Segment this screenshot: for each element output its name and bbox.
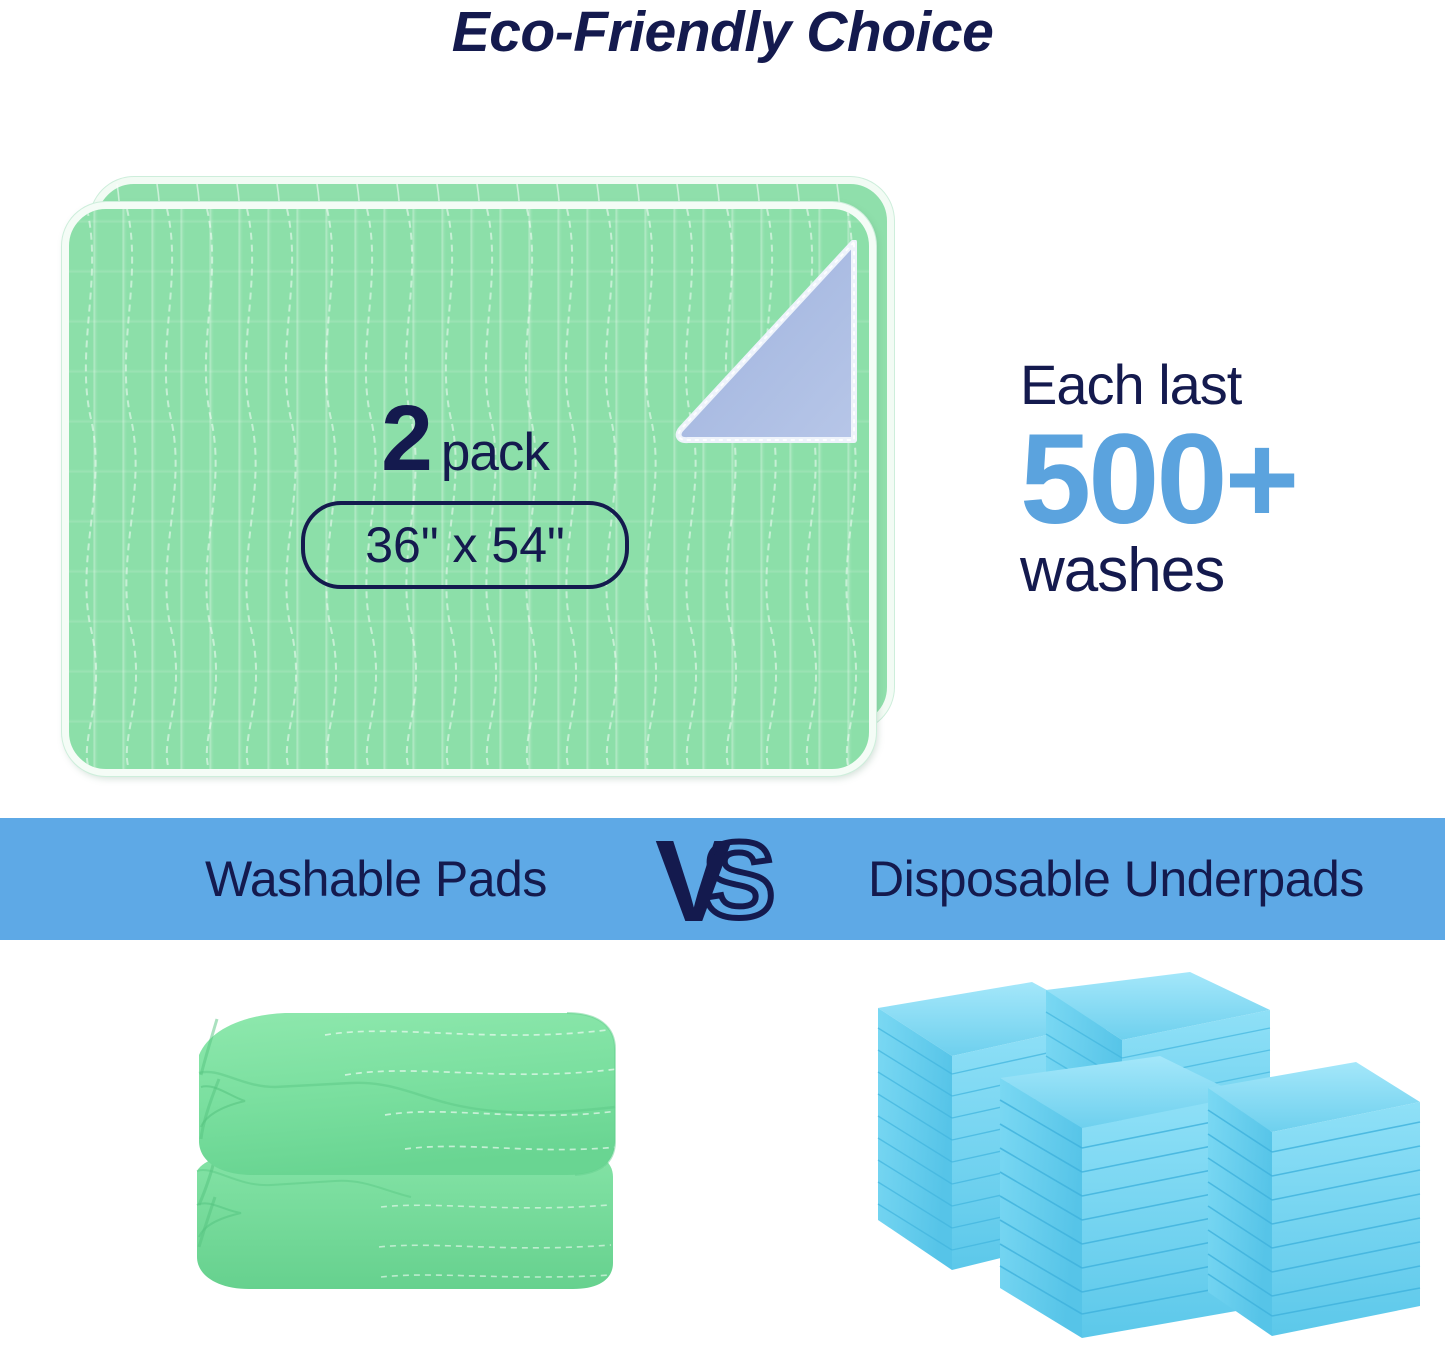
hero-section: 2 pack 36" x 54" Each last 500+ washes — [0, 72, 1445, 818]
folded-corner-backing-icon — [668, 240, 858, 445]
claim-line-1: Each last — [1020, 357, 1400, 413]
folded-washable-pads-image — [175, 975, 635, 1305]
svg-text:S: S — [703, 825, 775, 933]
comparison-section — [0, 940, 1445, 1370]
disposable-underpad-stacks-image — [860, 970, 1430, 1340]
pack-word: pack — [441, 422, 549, 483]
durability-claim: Each last 500+ washes — [1020, 357, 1400, 602]
vs-icon: V S — [655, 825, 805, 933]
banner-label-disposable: Disposable Underpads — [868, 850, 1364, 908]
claim-line-2: washes — [1020, 540, 1400, 602]
size-badge: 36" x 54" — [301, 501, 629, 589]
banner-label-washable: Washable Pads — [205, 850, 547, 908]
claim-wash-count: 500+ — [1020, 415, 1400, 546]
pack-count-line: 2 pack — [300, 397, 630, 483]
pack-count: 2 — [381, 397, 431, 481]
pack-info: 2 pack 36" x 54" — [300, 397, 630, 617]
comparison-banner: Washable Pads V S Disposable Underpads — [0, 818, 1445, 940]
page-title: Eco-Friendly Choice — [0, 0, 1445, 68]
